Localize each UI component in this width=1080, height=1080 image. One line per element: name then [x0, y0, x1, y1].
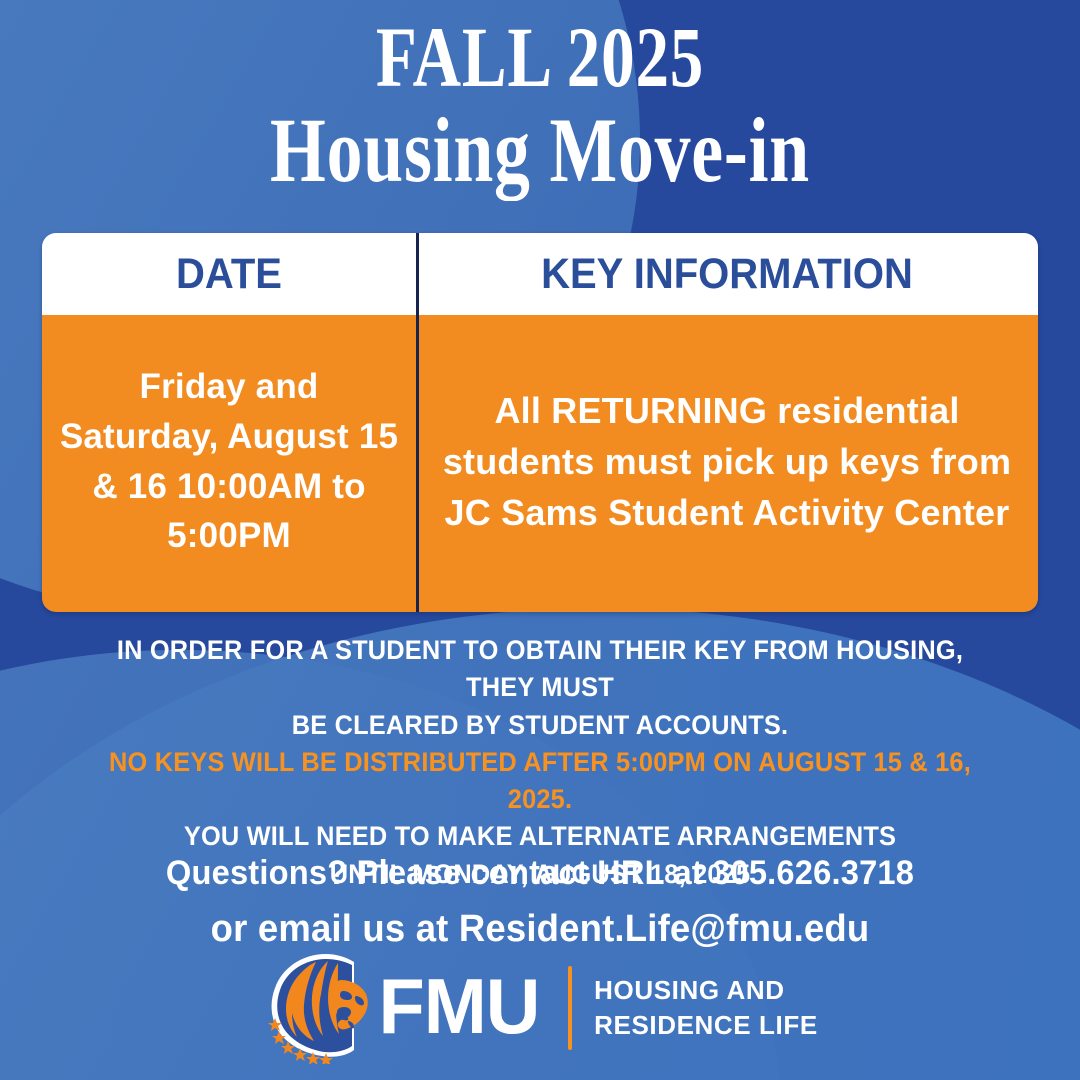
fmu-wordmark: FMU — [379, 967, 540, 1045]
table-row: Friday and Saturday, August 15 & 16 10:0… — [42, 315, 1038, 612]
page-title-line1: FALL 2025 — [119, 14, 961, 100]
notice-line-3-highlight: NO KEYS WILL BE DISTRIBUTED AFTER 5:00PM… — [79, 744, 1000, 819]
table-column-divider — [416, 233, 419, 612]
poster-content: FALL 2025 Housing Move-in DATE KEY INFOR… — [0, 0, 1080, 1080]
notice-line-2: BE CLEARED BY STUDENT ACCOUNTS. — [79, 707, 1000, 744]
table-header-row: DATE KEY INFORMATION — [42, 233, 1038, 315]
contact-block: Questions? Please contact HRL at 305.626… — [50, 852, 1030, 954]
column-header-key-information: KEY INFORMATION — [438, 233, 1016, 315]
schedule-table: DATE KEY INFORMATION Friday and Saturday… — [42, 233, 1038, 612]
lion-head-icon — [262, 952, 382, 1064]
notice-line-4: YOU WILL NEED TO MAKE ALTERNATE ARRANGEM… — [79, 818, 1000, 855]
notice-line-1: IN ORDER FOR A STUDENT TO OBTAIN THEIR K… — [79, 632, 1000, 707]
poster-title-block: FALL 2025 Housing Move-in — [0, 0, 1080, 196]
page-title-line2: Housing Move-in — [119, 104, 961, 196]
logo-divider — [568, 966, 572, 1050]
contact-email-line: or email us at Resident.Life@fmu.edu — [70, 904, 1011, 954]
cell-key-information: All RETURNING residential students must … — [416, 315, 1038, 612]
logo-department-line1: HOUSING AND — [594, 973, 818, 1008]
column-header-date: DATE — [55, 233, 403, 315]
fmu-logo-lockup: FMU HOUSING AND RESIDENCE LIFE — [0, 952, 1080, 1064]
cell-date: Friday and Saturday, August 15 & 16 10:0… — [42, 315, 416, 612]
logo-department-line2: RESIDENCE LIFE — [594, 1008, 818, 1043]
poster-canvas: FALL 2025 Housing Move-in DATE KEY INFOR… — [0, 0, 1080, 1080]
contact-phone-line: Questions? Please contact HRL at 305.626… — [70, 852, 1011, 896]
logo-department-name: HOUSING AND RESIDENCE LIFE — [594, 973, 818, 1043]
